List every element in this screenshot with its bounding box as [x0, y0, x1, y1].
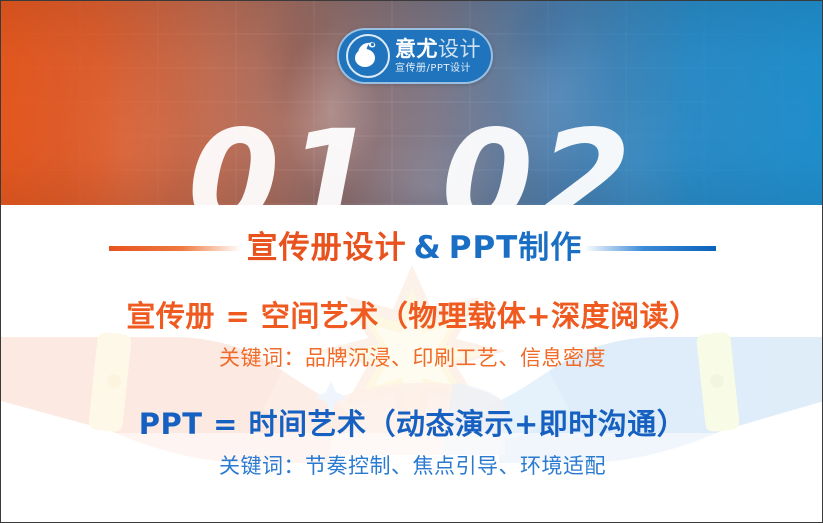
title-orange-part: 宣传册设计	[247, 230, 407, 266]
logo-text-block: 意尤设计 宣传册/PPT设计	[395, 39, 481, 74]
brush-badge-icon	[346, 34, 390, 78]
ppt-keywords: 关键词：节奏控制、焦点引导、环境适配	[1, 456, 823, 477]
content-area: 宣传册设计&PPT制作 宣传册 = 空间艺术（物理载体+深度阅读） 关键词：品牌…	[1, 205, 823, 523]
logo-tagline: 宣传册/PPT设计	[395, 64, 481, 74]
title-rule-left	[109, 246, 241, 251]
big-number-02: 02	[441, 102, 637, 205]
title-text: 宣传册设计&PPT制作	[247, 233, 583, 264]
logo-name-light: 设计	[438, 37, 481, 61]
brochure-keywords: 关键词：品牌沉浸、印刷工艺、信息密度	[1, 348, 823, 369]
big-number-01: 01	[188, 102, 384, 205]
title-rule-right	[584, 246, 716, 251]
logo-name-bold: 意尤	[395, 37, 438, 61]
logo-name: 意尤设计	[395, 39, 481, 60]
brand-logo[interactable]: 意尤设计 宣传册/PPT设计	[337, 28, 493, 84]
ppt-headline: PPT = 时间艺术（动态演示+即时沟通）	[1, 410, 823, 439]
brochure-headline: 宣传册 = 空间艺术（物理载体+深度阅读）	[1, 302, 823, 331]
poster-canvas: 01 02 意尤设计 宣传册/PPT设计	[0, 0, 823, 523]
section-title: 宣传册设计&PPT制作	[1, 233, 823, 264]
title-blue-part: PPT制作	[449, 230, 583, 266]
banner-big-numbers: 01 02	[1, 113, 823, 205]
title-ampersand: &	[407, 230, 449, 266]
hero-banner: 01 02 意尤设计 宣传册/PPT设计	[1, 1, 823, 205]
